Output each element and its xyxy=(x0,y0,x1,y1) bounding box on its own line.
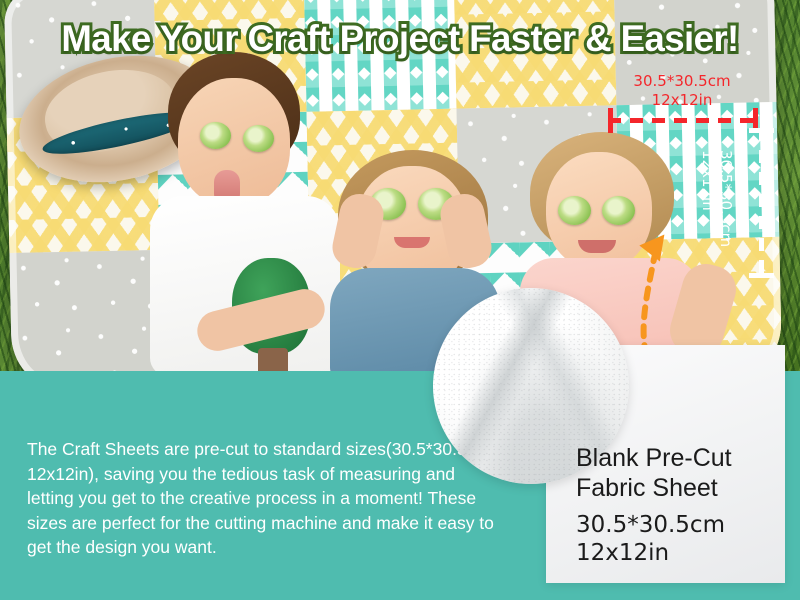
card-title-line1: Blank Pre-Cut xyxy=(576,443,786,473)
promo-banner: Make Your Craft Project Faster & Easier!… xyxy=(0,0,800,600)
red-measure-dashed-line xyxy=(608,118,758,123)
card-size-cm: 30.5*30.5cm xyxy=(576,511,786,539)
side-measurement-cm: 30.5*30.5cm xyxy=(717,150,735,270)
headline: Make Your Craft Project Faster & Easier! xyxy=(4,18,796,60)
card-size-in: 12x12in xyxy=(576,539,786,567)
top-measurement-cm: 30.5*30.5cm xyxy=(600,72,764,91)
cactus-pot xyxy=(258,348,288,372)
white-measure-dashed-line xyxy=(759,128,764,278)
top-measurement-in: 12x12in xyxy=(600,91,764,110)
card-size: 30.5*30.5cm 12x12in xyxy=(576,511,786,567)
smile xyxy=(394,237,430,248)
body-copy: The Craft Sheets are pre-cut to standard… xyxy=(27,437,502,560)
top-measurement-label: 30.5*30.5cm 12x12in xyxy=(600,72,764,110)
side-measurement-in: 12x12in xyxy=(699,150,717,270)
white-measure-cap-bottom xyxy=(749,273,774,278)
side-measurement-label: 30.5*30.5cm 12x12in xyxy=(699,150,735,270)
card-title: Blank Pre-Cut Fabric Sheet xyxy=(576,443,786,503)
card-title-line2: Fabric Sheet xyxy=(576,473,786,503)
